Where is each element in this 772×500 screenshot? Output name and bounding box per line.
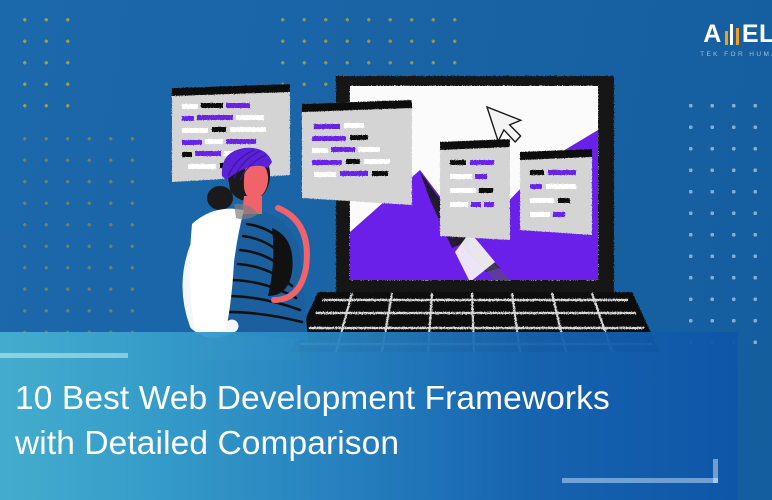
headline-line-2: with Detailed Comparison [15,421,730,466]
brand-logo-wordmark: A EL [703,22,772,46]
hero-illustration [0,0,772,360]
floating-card-middle [302,100,412,205]
band-corner-rule-horizontal [562,478,718,483]
band-accent-rule-left [0,353,128,358]
brand-name-end: EL [742,22,772,46]
brand-tagline: TEK FOR HUMA [700,51,772,58]
brand-name-start: A [703,22,722,46]
promo-banner: A EL TEK FOR HUMA 10 Best Web Developmen… [0,0,772,500]
brand-logo[interactable]: A EL TEK FOR HUMA [700,22,772,58]
banner-headline: 10 Best Web Development Frameworks with … [15,376,730,466]
headline-line-1: 10 Best Web Development Frameworks [15,376,730,421]
floating-card-inner-1 [440,139,510,240]
brand-bars-icon [725,24,739,45]
floating-card-inner-2 [520,149,592,235]
